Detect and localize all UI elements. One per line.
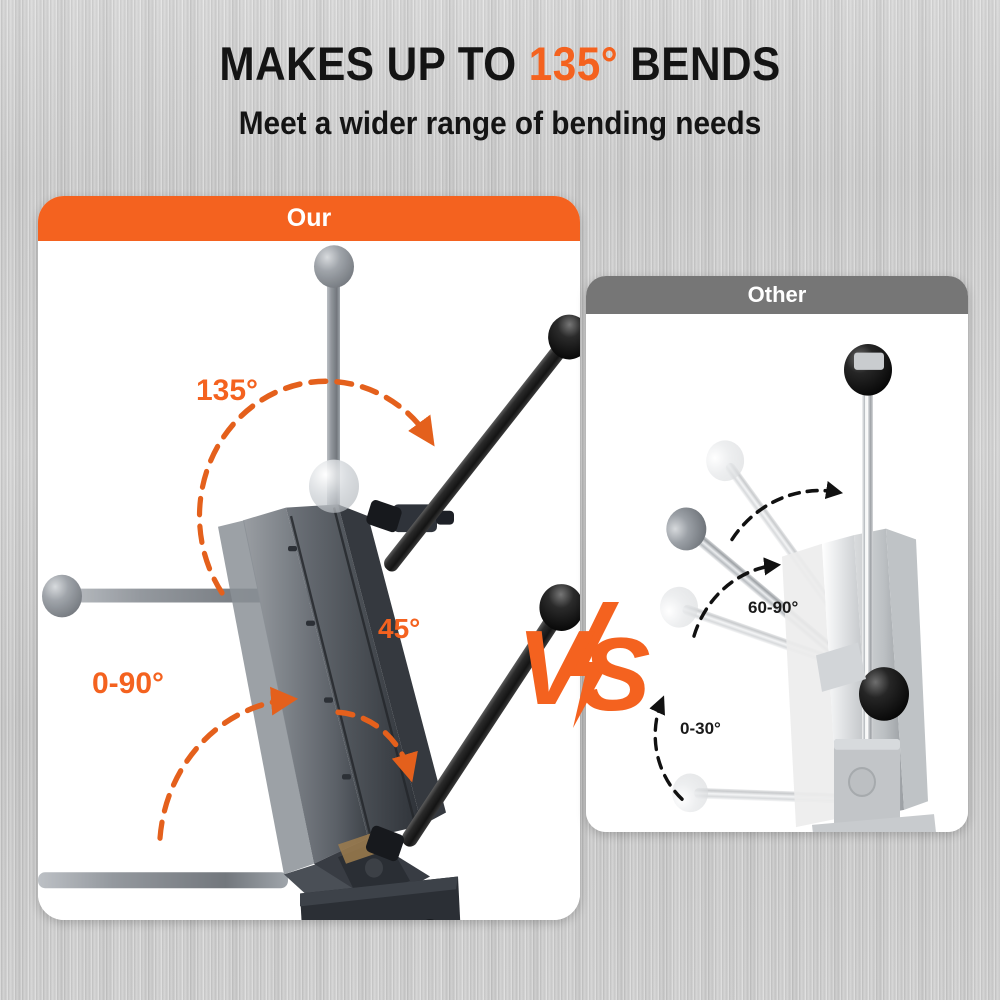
title-prefix: MAKES UP TO: [219, 37, 528, 90]
page-title: MAKES UP TO 135° BENDS: [50, 36, 950, 91]
annotation-0-90: 0-90°: [92, 667, 164, 701]
card-header-other-label: Other: [748, 284, 807, 306]
vs-icon: V S: [515, 600, 665, 730]
infographic-canvas: MAKES UP TO 135° BENDS Meet a wider rang…: [0, 0, 1000, 1000]
annotation-45: 45°: [378, 613, 420, 645]
card-header-our: Our: [38, 196, 580, 241]
title-suffix: BENDS: [618, 37, 781, 90]
our-machine-illustration: [38, 241, 580, 920]
title-highlight: 135°: [529, 37, 618, 90]
other-machine-illustration: [586, 314, 968, 832]
card-header-our-label: Our: [287, 206, 331, 231]
annotation-60-90: 60-90°: [748, 598, 798, 618]
comparison-card-our: Our: [38, 196, 580, 920]
card-body-other: [586, 314, 968, 832]
annotation-0-30: 0-30°: [680, 719, 721, 739]
comparison-card-other: Other: [586, 276, 968, 832]
card-body-our: [38, 241, 580, 920]
svg-text:S: S: [581, 617, 650, 730]
annotation-135: 135°: [196, 374, 258, 408]
card-header-other: Other: [586, 276, 968, 314]
page-subtitle: Meet a wider range of bending needs: [35, 105, 965, 142]
